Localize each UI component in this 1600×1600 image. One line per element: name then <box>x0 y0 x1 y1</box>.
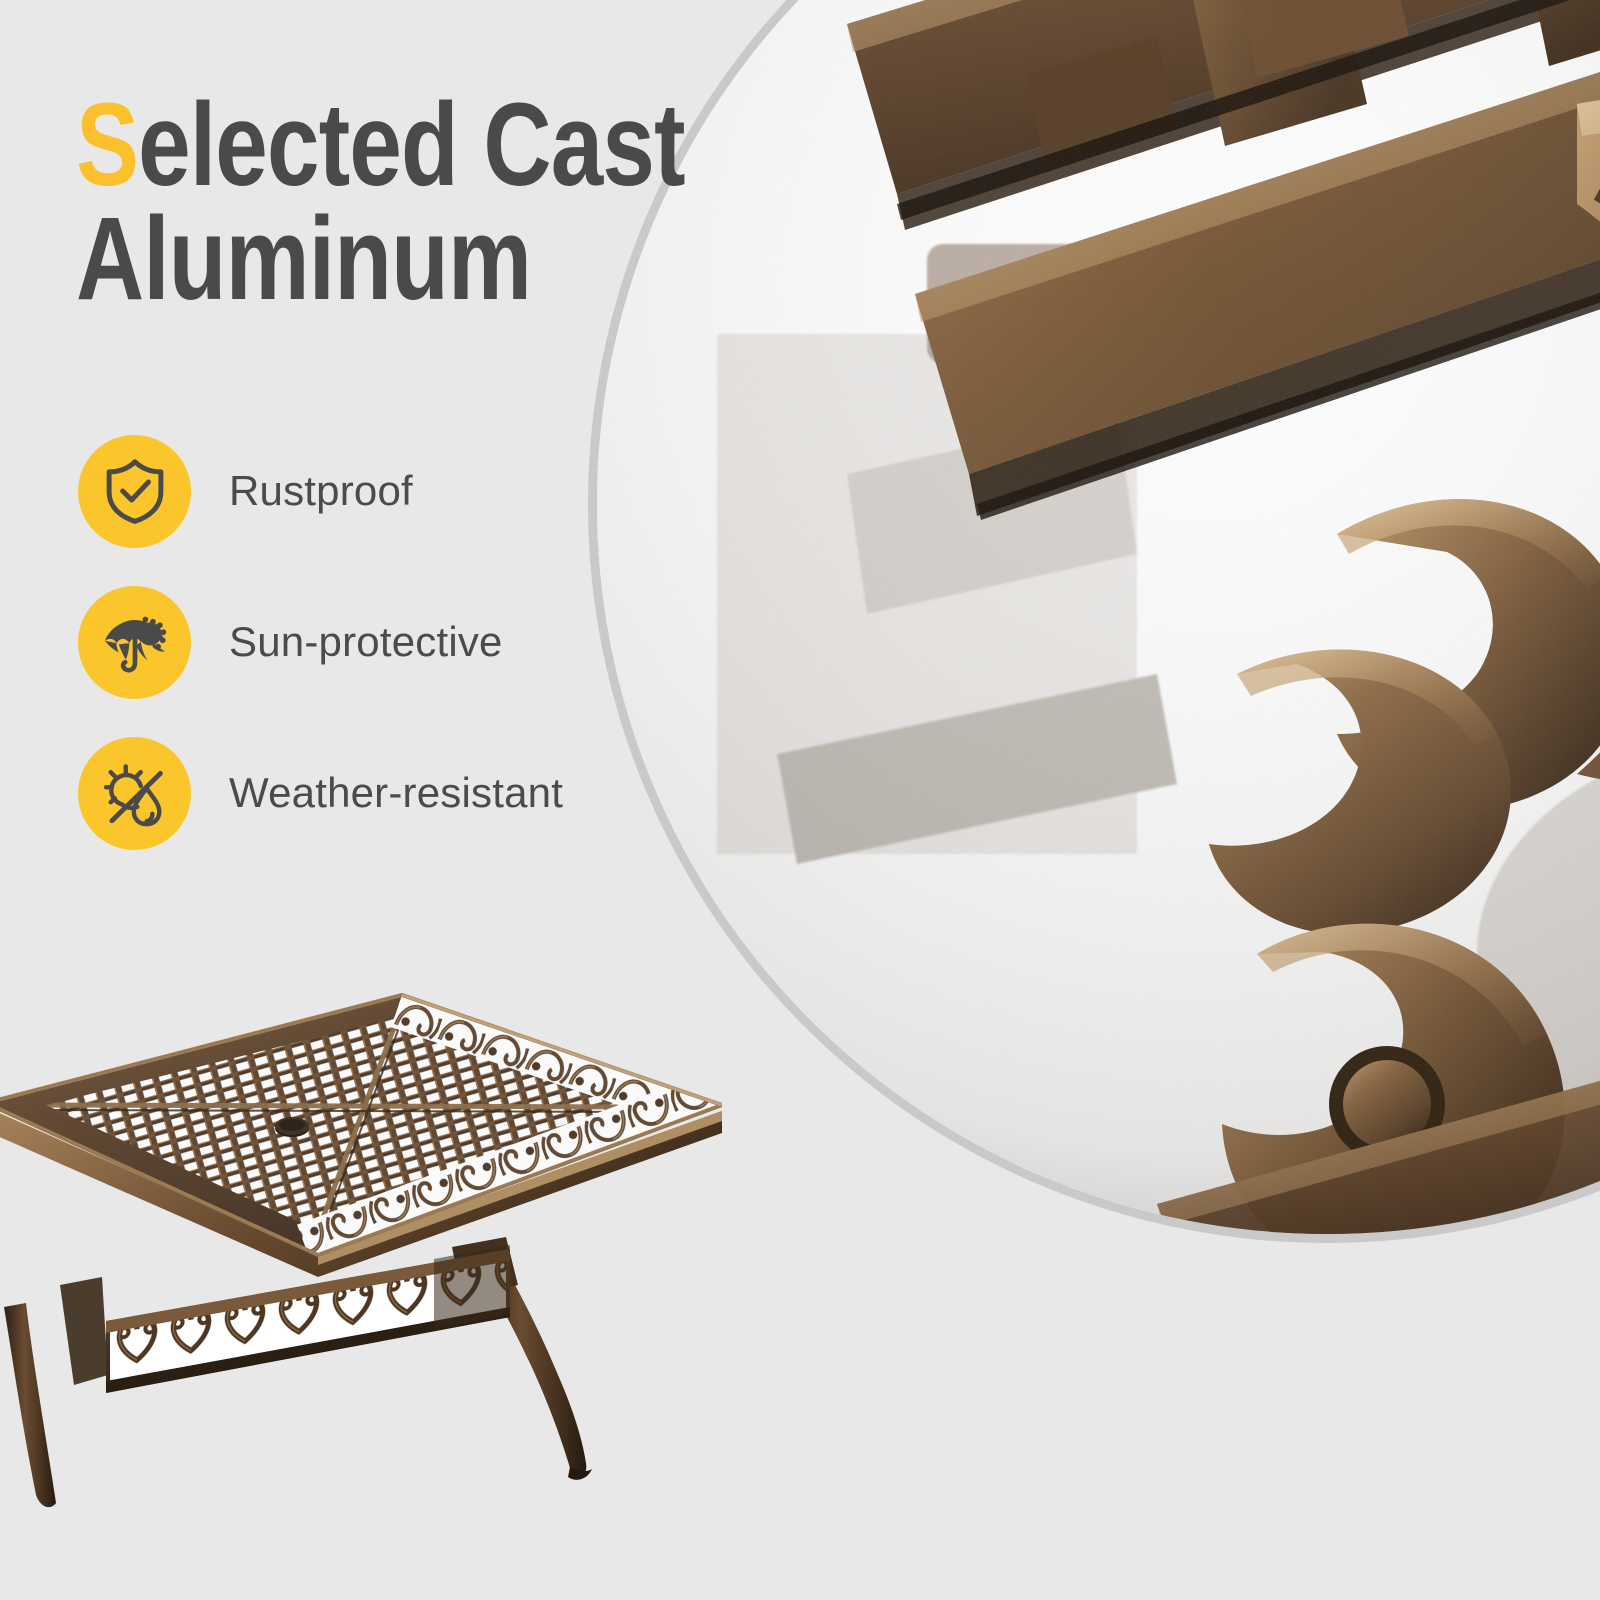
headline-line-1: Selected Cast <box>76 88 684 202</box>
headline-initial: S <box>76 79 138 211</box>
feature-label-sun-protective: Sun-protective <box>229 618 503 666</box>
umbrella-sun-icon <box>78 586 191 699</box>
marketing-banner: Selected Cast Aluminum Rustproof <box>0 0 1600 1600</box>
cast-aluminum-scrollwork-closeup <box>597 0 1600 1234</box>
shield-check-icon <box>78 435 191 548</box>
sun-rain-slash-icon <box>78 737 191 850</box>
feature-item-weather-resistant: Weather-resistant <box>78 734 563 852</box>
feature-label-rustproof: Rustproof <box>229 467 413 515</box>
feature-item-sun-protective: Sun-protective <box>78 583 563 701</box>
cast-aluminum-patio-dining-table <box>0 955 722 1535</box>
feature-list: Rustproof <box>78 432 563 885</box>
headline-line-2: Aluminum <box>76 202 684 316</box>
feature-item-rustproof: Rustproof <box>78 432 563 550</box>
feature-label-weather-resistant: Weather-resistant <box>229 769 563 817</box>
macro-photo-circle <box>597 0 1600 1234</box>
